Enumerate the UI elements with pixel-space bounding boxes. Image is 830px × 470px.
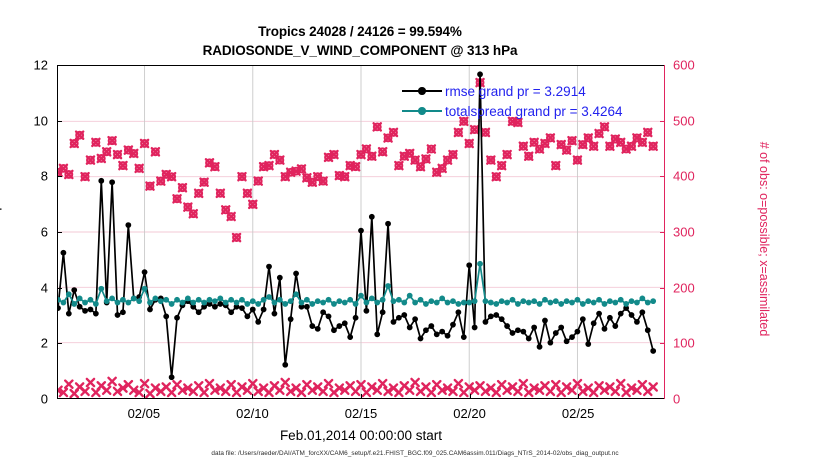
legend-item-rmse: rmse grand pr = 3.2914 [402,81,623,101]
y-tick-right-500: 500 [673,113,719,128]
y-tickmark-left-6 [57,232,62,233]
x-tick-02-05: 02/05 [109,406,179,421]
y-tick-right-200: 200 [673,280,719,295]
y-tick-left-6: 6 [2,225,48,240]
x-tick-02-25: 02/25 [543,406,613,421]
y-axis-right-title: # of obs: o=possible; x=assimilated [757,69,771,409]
y-tickmark-left-4 [57,288,62,289]
y-tickmark-left-2 [57,343,62,344]
x-tickmark-02-20 [470,394,471,399]
x-tickmark-02-10 [252,394,253,399]
y-tick-left-10: 10 [2,113,48,128]
y-tickmark-left-10 [57,121,62,122]
x-tickmark-02-25 [578,394,579,399]
y-tick-left-4: 4 [2,280,48,295]
y-tick-left-8: 8 [2,169,48,184]
legend-swatch-rmse [402,85,442,97]
x-axis-title: Feb.01,2014 00:00:00 start [57,428,665,443]
y-tick-left-2: 2 [2,336,48,351]
legend-swatch-totalspread [402,105,442,117]
y-axis-left-title: rmse and totalspread [0,70,2,410]
chart-title-line1: Tropics 24028 / 24126 = 99.594% [0,22,720,41]
x-tick-02-20: 02/20 [435,406,505,421]
legend-label-rmse: rmse grand pr = 3.2914 [445,84,586,99]
data-file-caption: data file: /Users/raeder/DAI/ATM_forcXX/… [0,450,830,457]
chart-page: Tropics 24028 / 24126 = 99.594% RADIOSON… [0,0,830,470]
chart-title-line2: RADIOSONDE_V_WIND_COMPONENT @ 313 hPa [0,41,720,60]
x-tick-02-10: 02/10 [217,406,287,421]
y-tick-left-0: 0 [2,392,48,407]
chart-legend: rmse grand pr = 3.2914 totalspread grand… [396,79,629,124]
y-tick-right-100: 100 [673,336,719,351]
y-tickmark-left-8 [57,176,62,177]
y-tick-right-600: 600 [673,58,719,73]
y-tick-left-12: 12 [2,58,48,73]
y-tick-right-400: 400 [673,169,719,184]
y-tick-right-300: 300 [673,225,719,240]
x-tickmark-02-15 [361,394,362,399]
x-tickmark-02-05 [144,394,145,399]
legend-label-totalspread: totalspread grand pr = 3.4264 [445,104,623,119]
x-tick-02-15: 02/15 [326,406,396,421]
legend-item-totalspread: totalspread grand pr = 3.4264 [402,101,623,121]
y-tick-right-0: 0 [673,392,719,407]
right-axis-spine [664,65,665,399]
